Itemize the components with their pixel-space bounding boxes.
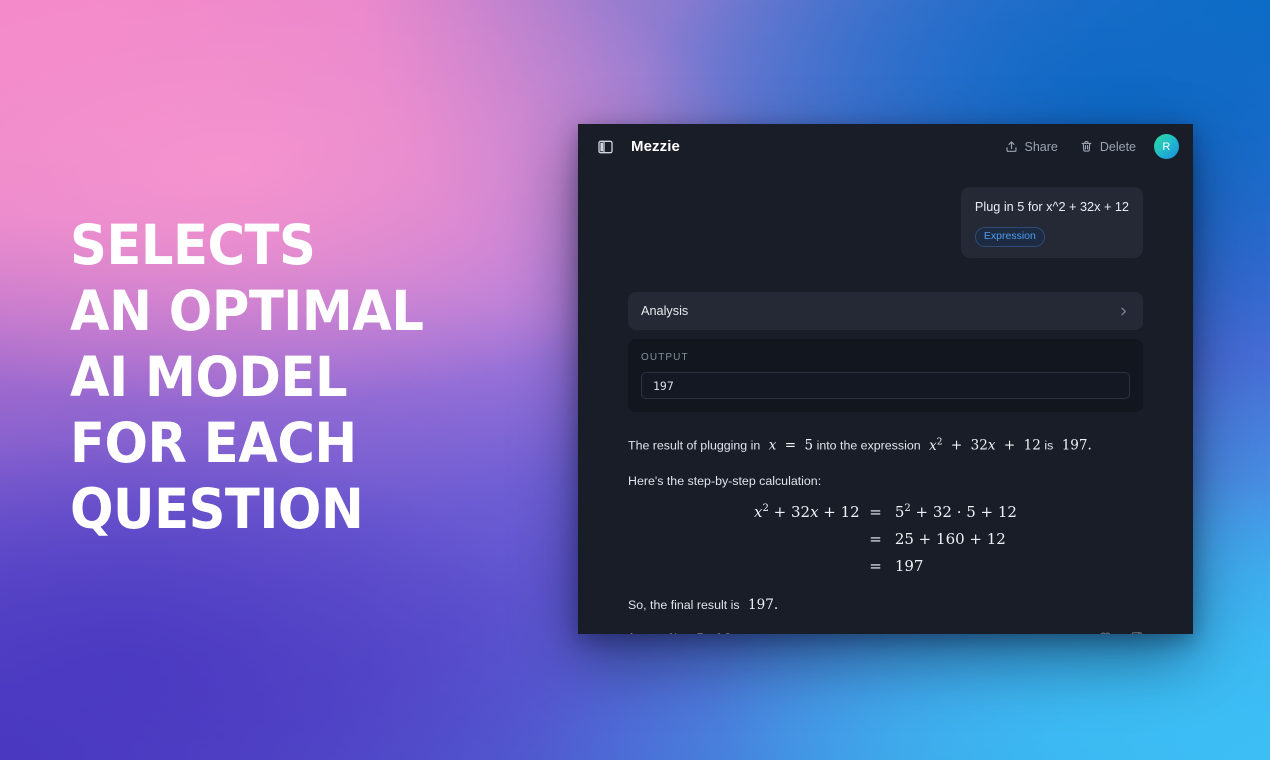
conclusion-period: . [774, 597, 778, 613]
thumbs-down-icon[interactable] [1130, 631, 1143, 635]
conclusion-before: So, the final result is [628, 598, 740, 612]
share-button[interactable]: Share [1005, 140, 1058, 154]
panel-left-icon[interactable] [594, 136, 616, 158]
equation-grid: x2 + 32x + 12 = 52 + 32 · 5 + 12 = 25 + … [754, 503, 1017, 575]
analysis-label: Analysis [641, 304, 1118, 318]
app-title: Mezzie [631, 138, 680, 155]
answer-intro-expression: x2 [929, 438, 942, 454]
titlebar: Mezzie Share Delete [578, 124, 1193, 169]
heart-icon[interactable] [1099, 631, 1112, 635]
answer-intro-12: 12 [1024, 438, 1041, 454]
answer-intro-var: x [769, 438, 777, 454]
user-message-text: Plug in 5 for x^2 + 32x + 12 [975, 199, 1129, 216]
output-value: 197 [653, 379, 674, 393]
answer-intro-value: 5 [805, 438, 814, 454]
share-label: Share [1025, 140, 1058, 154]
output-label: OUTPUT [641, 352, 1130, 363]
share-upload-icon [1005, 140, 1018, 153]
answer-intro-is: is [1044, 439, 1053, 453]
message-footer: Amazon Nova Pro 1.0 [628, 631, 1143, 635]
output-value-box[interactable]: 197 [641, 372, 1130, 399]
equation-line3-lhs: = [754, 557, 882, 575]
conclusion-value: 197 [748, 597, 774, 613]
equation-line2-lhs: = [754, 530, 882, 548]
conclusion-paragraph: So, the final result is 197. [628, 596, 1143, 614]
answer-intro-result: 197 [1062, 438, 1088, 454]
page-headline: Selects an optimal AI model for each que… [70, 212, 516, 542]
trash-icon [1080, 140, 1093, 153]
equation-line3-rhs: 197 [895, 557, 1017, 575]
app-window: Mezzie Share Delete [578, 124, 1193, 634]
conversation: Plug in 5 for x^2 + 32x + 12 Expression … [578, 169, 1193, 634]
user-message-row: Plug in 5 for x^2 + 32x + 12 Expression [628, 187, 1143, 258]
analysis-row[interactable]: Analysis [628, 292, 1143, 330]
answer-intro-plus-1: + [951, 438, 962, 454]
expression-badge: Expression [975, 227, 1045, 247]
user-message-bubble: Plug in 5 for x^2 + 32x + 12 Expression [961, 187, 1143, 258]
equation-block: x2 + 32x + 12 = 52 + 32 · 5 + 12 = 25 + … [628, 503, 1143, 575]
delete-label: Delete [1100, 140, 1136, 154]
answer-intro-period: . [1088, 438, 1092, 454]
answer-intro-plus-2: + [1004, 438, 1015, 454]
equation-line1-lhs: x2 + 32x + 12 = [754, 503, 882, 521]
answer-intro-paragraph: The result of plugging in x = 5 into the… [628, 433, 1143, 455]
answer-intro-32x: 32x [971, 438, 996, 454]
chevron-right-icon[interactable] [1118, 306, 1129, 317]
model-name: Amazon Nova Pro 1.0 [628, 631, 1081, 634]
answer-intro-mid: into the expression [817, 439, 921, 453]
equation-line1-rhs: 52 + 32 · 5 + 12 [895, 503, 1017, 521]
output-card: OUTPUT 197 [628, 339, 1143, 412]
answer-intro-equals: = [785, 438, 796, 454]
answer-intro-before: The result of plugging in [628, 439, 760, 453]
steps-heading: Here's the step-by-step calculation: [628, 472, 1143, 490]
avatar[interactable]: R [1154, 134, 1179, 159]
equation-line2-rhs: 25 + 160 + 12 [895, 530, 1017, 548]
delete-button[interactable]: Delete [1080, 140, 1136, 154]
